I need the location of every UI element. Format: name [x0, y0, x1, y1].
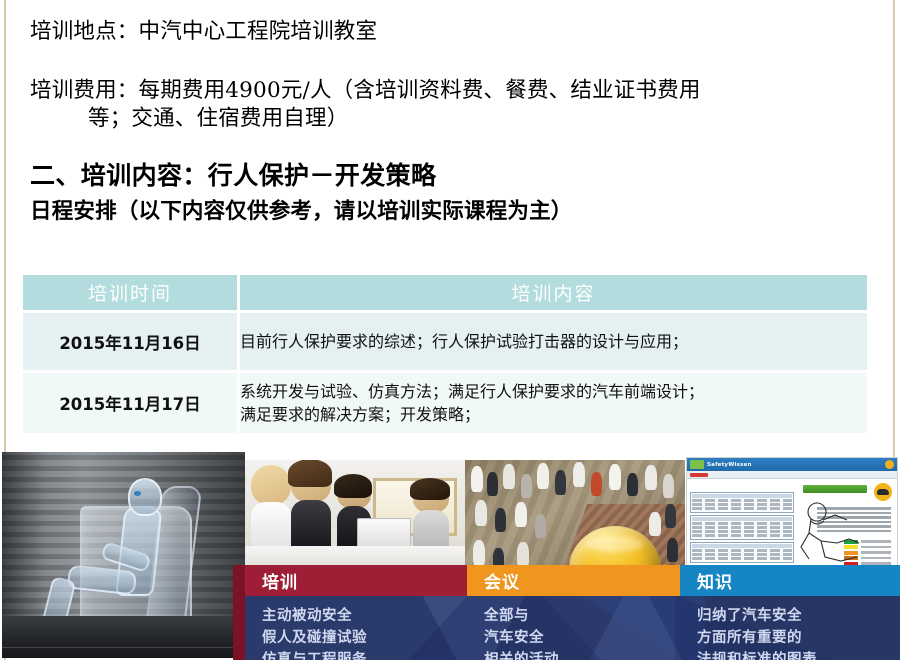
banner-meeting-line-3: 相关的活动	[484, 650, 680, 660]
crowd-and-car-photo	[465, 460, 685, 572]
table-cell-content-line-1: 系统开发与试验、仿真方法；满足行人保护要求的汽车前端设计；	[240, 380, 867, 403]
table-cell-date: 2015年11月16日	[23, 313, 240, 373]
banner-meeting-line-1: 全部与	[484, 606, 680, 628]
table-row: 2015年11月16日 目前行人保护要求的综述；行人保护试验打击器的设计与应用；	[23, 313, 867, 373]
table-cell-content: 目前行人保护要求的综述；行人保护试验打击器的设计与应用；	[240, 313, 867, 373]
test-rig-floor	[2, 616, 245, 658]
chart-tabbar	[687, 471, 897, 479]
banner-tab-row: 培训 会议 知识	[245, 565, 900, 596]
category-banner: 培训 会议 知识 主动被动安全 假人及碰撞试验 仿真与工程服务 全部与 汽车安全…	[245, 565, 900, 660]
pedestrian-dummy-diagram	[791, 499, 865, 569]
banner-knowledge-line-2: 方面所有重要的	[697, 628, 900, 650]
training-venue-paragraph: 培训地点：中汽中心工程院培训教室	[30, 18, 878, 47]
safety-wissen-chart-photo: SafetyWissen	[686, 457, 898, 573]
banner-meeting-line-2: 汽车安全	[484, 628, 680, 650]
audience-person	[251, 465, 291, 550]
table-cell-content-line-1: 目前行人保护要求的综述；行人保护试验打击器的设计与应用；	[240, 330, 867, 353]
training-fee-line-2: 等；交通、住宿费用自理）	[30, 105, 878, 134]
banner-column-knowledge: 归纳了汽车安全 方面所有重要的 法规和标准的图表	[680, 606, 900, 660]
banner-description-row: 主动被动安全 假人及碰撞试验 仿真与工程服务 全部与 汽车安全 相关的活动 归纳…	[245, 596, 900, 660]
dummy-head-shape	[128, 478, 162, 516]
slide-text-block: 培训地点：中汽中心工程院培训教室 培训费用：每期费用4900元/人（含培训资料费…	[30, 18, 878, 225]
schedule-subheading: 日程安排（以下内容仅供参考，请以培训实际课程为主）	[30, 194, 878, 225]
training-fee-line-1: 培训费用：每期费用4900元/人（含培训资料费、餐费、结业证书费用	[30, 78, 701, 103]
banner-knowledge-line-3: 法规和标准的图表	[697, 650, 900, 660]
table-cell-content-line-2: 满足要求的解决方案；开发策略；	[240, 403, 867, 426]
banner-tab-meeting[interactable]: 会议	[467, 565, 680, 596]
table-cell-content: 系统开发与试验、仿真方法；满足行人保护要求的汽车前端设计； 满足要求的解决方案；…	[240, 373, 867, 436]
chart-criteria-table	[690, 515, 794, 540]
table-cell-date: 2015年11月17日	[23, 373, 240, 436]
banner-training-line-1: 主动被动安全	[262, 606, 467, 628]
banner-training-line-3: 仿真与工程服务	[262, 650, 467, 660]
banner-training-line-2: 假人及碰撞试验	[262, 628, 467, 650]
chart-titlebar: SafetyWissen	[687, 458, 897, 471]
banner-column-meeting: 全部与 汽车安全 相关的活动	[467, 606, 680, 660]
banner-column-training: 主动被动安全 假人及碰撞试验 仿真与工程服务	[245, 606, 467, 660]
slide-canvas: 培训地点：中汽中心工程院培训教室 培训费用：每期费用4900元/人（含培训资料费…	[0, 0, 900, 660]
table-header-time: 培训时间	[23, 275, 240, 313]
car-icon	[874, 483, 892, 501]
banner-tab-knowledge[interactable]: 知识	[680, 565, 900, 596]
banner-knowledge-line-1: 归纳了汽车安全	[697, 606, 900, 628]
table-header-content: 培训内容	[240, 275, 867, 313]
chart-green-bar	[803, 485, 867, 493]
safetywissen-brand-label: SafetyWissen	[707, 462, 752, 468]
banner-tab-training[interactable]: 培训	[245, 565, 467, 596]
chart-active-tab	[690, 473, 708, 477]
chart-criteria-table	[690, 542, 794, 563]
safetywissen-logo-icon	[690, 460, 704, 469]
section-heading: 二、培训内容：行人保护－开发策略	[30, 156, 878, 192]
banner-left-cap	[233, 565, 245, 660]
classroom-audience-photo	[245, 460, 465, 572]
chart-badge-icon	[885, 460, 894, 469]
training-schedule-table: 培训时间 培训内容 2015年11月16日 目前行人保护要求的综述；行人保护试验…	[23, 275, 867, 436]
table-row: 2015年11月17日 系统开发与试验、仿真方法；满足行人保护要求的汽车前端设计…	[23, 373, 867, 436]
chart-criteria-table	[690, 492, 794, 513]
chart-body	[687, 479, 897, 573]
audience-person	[413, 483, 449, 550]
audience-person	[291, 465, 331, 550]
training-fee-paragraph: 培训费用：每期费用4900元/人（含培训资料费、餐费、结业证书费用 等；交通、住…	[30, 77, 878, 134]
crash-test-dummy-photo	[2, 452, 245, 658]
table-header-row: 培训时间 培训内容	[23, 275, 867, 313]
